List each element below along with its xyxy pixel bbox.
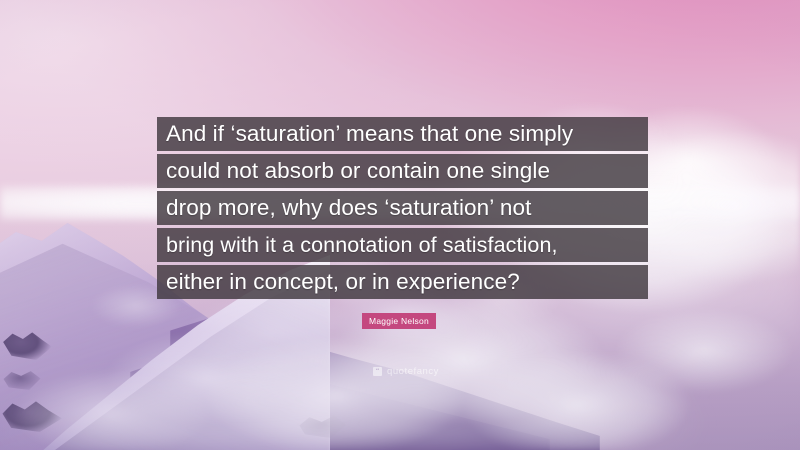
watermark: “ quotefancy xyxy=(373,366,439,377)
quote-line: could not absorb or contain one single xyxy=(157,154,648,188)
author-badge: Maggie Nelson xyxy=(362,313,436,329)
quote-line: drop more, why does ‘saturation’ not xyxy=(157,191,648,225)
quote-line: either in concept, or in experience? xyxy=(157,265,648,299)
quote-line: And if ‘saturation’ means that one simpl… xyxy=(157,117,648,151)
quote-line: bring with it a connotation of satisfact… xyxy=(157,228,648,262)
quote-mark-icon: “ xyxy=(373,367,382,376)
quote-poster: And if ‘saturation’ means that one simpl… xyxy=(0,0,800,450)
watermark-brand: quotefancy xyxy=(387,366,439,377)
quote-text-block: And if ‘saturation’ means that one simpl… xyxy=(157,117,648,299)
